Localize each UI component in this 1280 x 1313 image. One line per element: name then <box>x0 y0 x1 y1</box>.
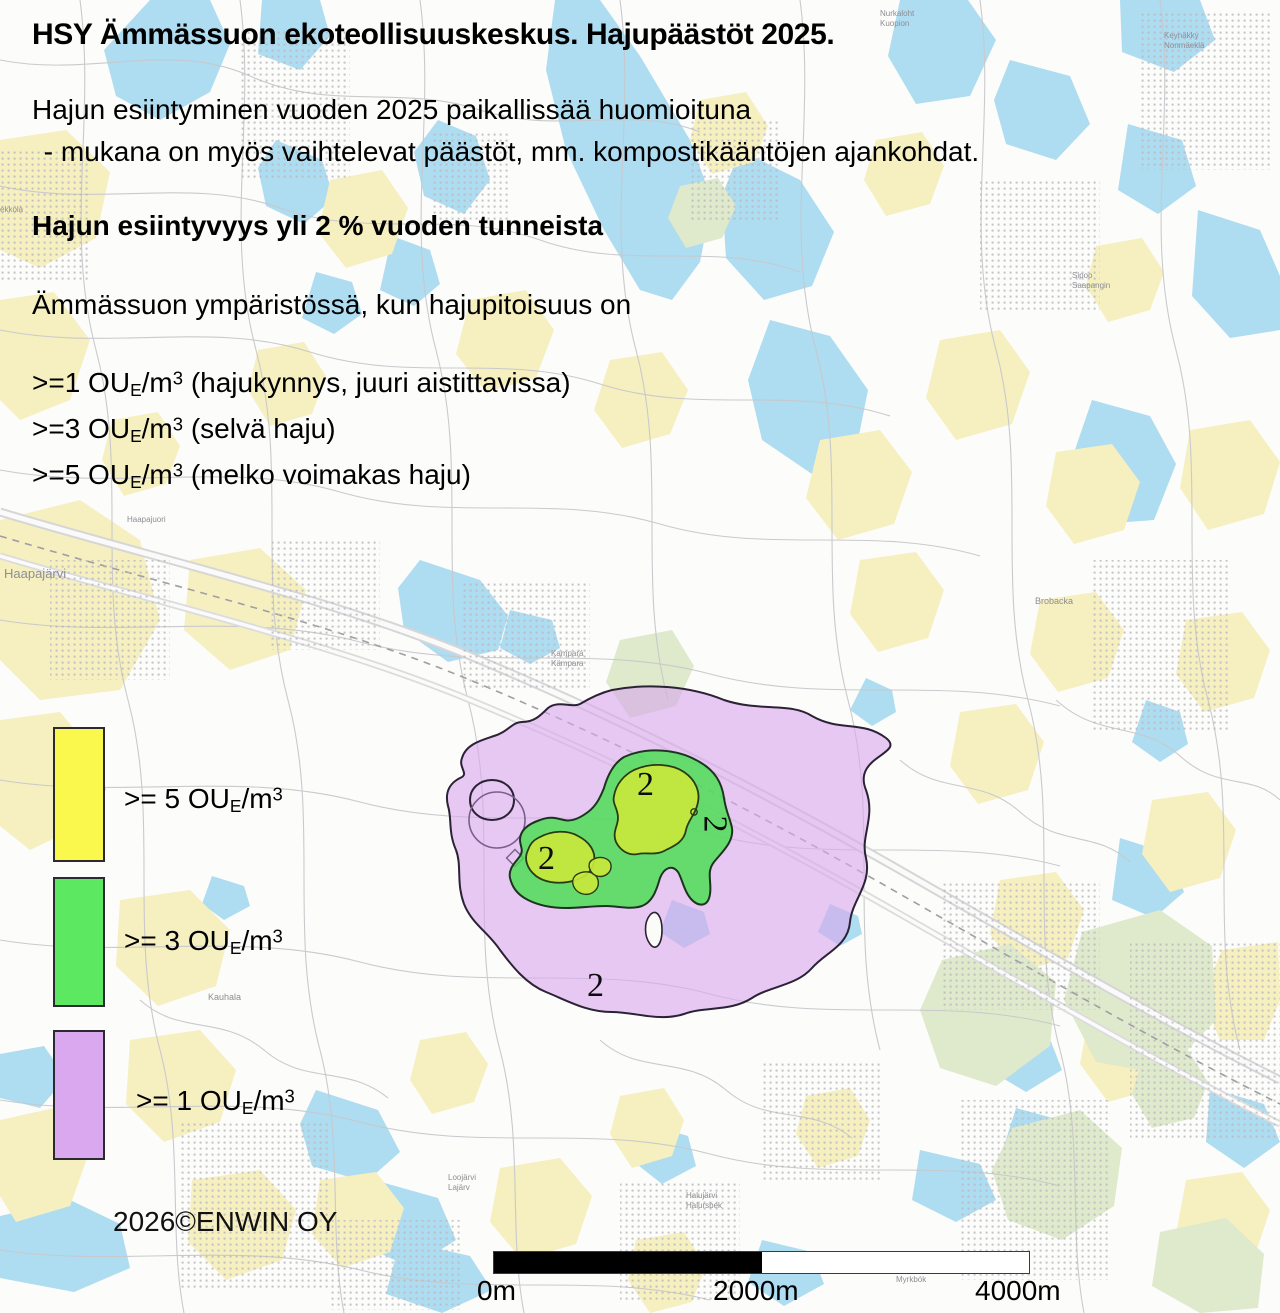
scale-bar <box>493 1251 1030 1274</box>
page-title: HSY Ämmässuon ekoteollisuuskeskus. Hajup… <box>32 20 834 50</box>
svg-text:Nonmäeklä: Nonmäeklä <box>1164 41 1205 50</box>
threshold-3-desc: (melko voimakas haju) <box>183 459 471 490</box>
subtitle-line-2: - mukana on myös vaihtelevat päästöt, mm… <box>36 138 979 166</box>
base-map[interactable]: Haapajärvi Haapajuori Brobacka Kampará K… <box>0 0 1280 1313</box>
scale-bar-segment-light <box>762 1252 1030 1273</box>
svg-text:Haapajärvi: Haapajärvi <box>4 566 66 581</box>
threshold-2-subscript: E <box>130 426 142 446</box>
threshold-1-prefix: >=1 OU <box>32 367 130 398</box>
svg-text:Sipoo: Sipoo <box>1072 271 1093 280</box>
svg-text:Loojärvi: Loojärvi <box>448 1173 476 1182</box>
svg-text:Kuopion: Kuopion <box>880 19 909 28</box>
svg-text:Saapangin: Saapangin <box>1072 281 1110 290</box>
svg-text:ekkola: ekkola <box>0 205 24 214</box>
svg-text:Haapajuori: Haapajuori <box>127 515 166 524</box>
odour-zone-1-hole <box>646 912 663 947</box>
svg-text:Halursbek: Halursbek <box>686 1201 723 1210</box>
section-heading: Hajun esiintyvyys yli 2 % vuoden tunneis… <box>32 212 603 240</box>
threshold-1-desc: (hajukynnys, juuri aistittavissa) <box>183 367 570 398</box>
threshold-1-subscript: E <box>130 380 142 400</box>
threshold-2-exponent: 3 <box>173 413 183 434</box>
threshold-3-subscript: E <box>130 472 142 492</box>
svg-text:Brobacka: Brobacka <box>1035 596 1073 606</box>
threshold-3-exponent: 3 <box>173 459 183 480</box>
threshold-2-desc: (selvä haju) <box>183 413 336 444</box>
svg-text:Myrkbók: Myrkbók <box>896 1275 927 1284</box>
odour-dispersion-map-page: Haapajärvi Haapajuori Brobacka Kampará K… <box>0 0 1280 1313</box>
subtitle-line-1: Hajun esiintyminen vuoden 2025 paikallis… <box>32 96 751 124</box>
contour-label-north: 2 <box>637 766 654 804</box>
threshold-line-3: >=5 OUE/m3 (melko voimakas haju) <box>32 461 471 491</box>
contour-label-east: 2 <box>696 816 734 833</box>
threshold-1-exponent: 3 <box>173 367 183 388</box>
threshold-line-1: >=1 OUE/m3 (hajukynnys, juuri aistittavi… <box>32 369 571 399</box>
contour-label-west: 2 <box>538 840 555 878</box>
threshold-2-unit: /m <box>142 413 173 444</box>
threshold-3-prefix: >=5 OU <box>32 459 130 490</box>
odour-zone-5-ou-blob-b <box>589 858 611 877</box>
threshold-1-unit: /m <box>142 367 173 398</box>
svg-text:Lajärv: Lajärv <box>448 1183 470 1192</box>
scale-bar-segment-dark <box>494 1252 762 1273</box>
threshold-2-prefix: >=3 OU <box>32 413 130 444</box>
threshold-3-unit: /m <box>142 459 173 490</box>
threshold-line-2: >=3 OUE/m3 (selvä haju) <box>32 415 336 445</box>
scale-label-end: 4000m <box>975 1275 1061 1307</box>
copyright-notice: 2026©ENWIN OY <box>113 1206 337 1238</box>
svg-text:Kauhala: Kauhala <box>208 992 241 1002</box>
scale-label-middle: 2000m <box>713 1275 799 1307</box>
svg-text:Halujärvi: Halujärvi <box>686 1191 717 1200</box>
lede-text: Ämmässuon ympäristössä, kun hajupitoisuu… <box>32 291 631 319</box>
svg-text:Kämpara: Kämpara <box>551 659 584 668</box>
svg-text:Kampará: Kampará <box>551 649 584 658</box>
contour-label-south: 2 <box>587 967 604 1005</box>
scale-label-start: 0m <box>477 1275 516 1307</box>
svg-text:Nurkaloht: Nurkaloht <box>880 9 915 18</box>
svg-text:Keynäkky: Keynäkky <box>1164 31 1199 40</box>
